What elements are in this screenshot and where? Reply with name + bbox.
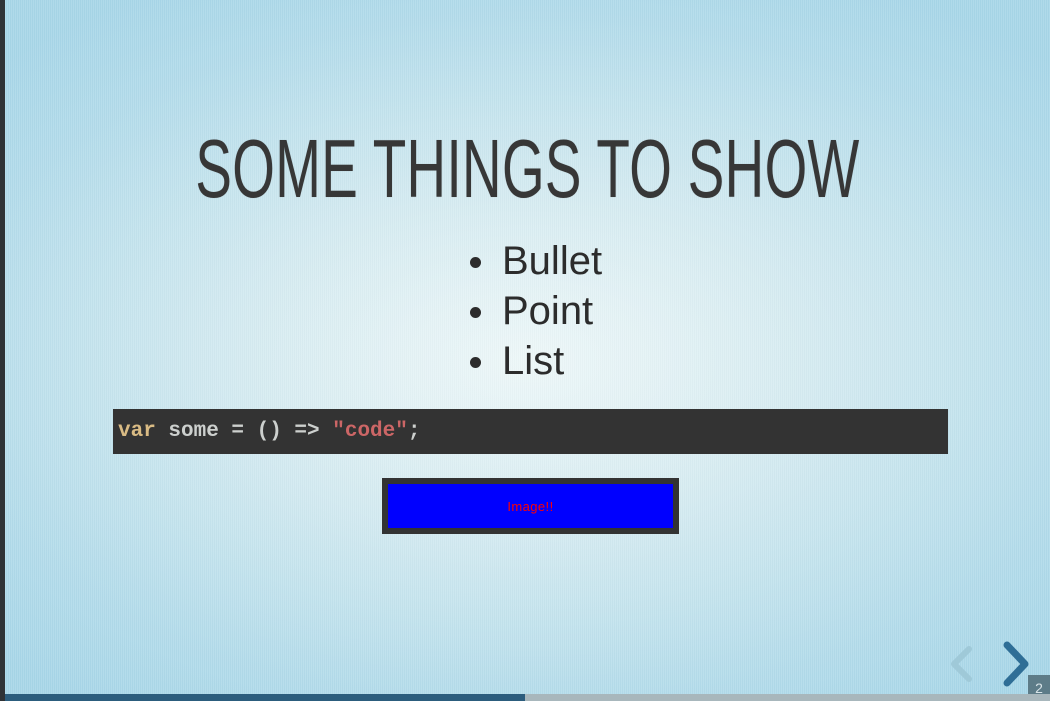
list-item: Point	[502, 286, 602, 336]
code-token-string: "code"	[332, 420, 408, 443]
viewport-left-edge	[0, 0, 5, 701]
list-item: Bullet	[502, 236, 602, 286]
code-block: var some = () => "code";	[113, 409, 948, 454]
code-token-plain: some = () =>	[156, 420, 332, 443]
code-token-keyword: var	[118, 420, 156, 443]
list-item-label: Bullet	[502, 239, 602, 283]
image-placeholder: Image!!	[382, 478, 679, 534]
bullet-list: Bullet Point List	[470, 236, 602, 386]
slide-canvas: SOME THINGS TO SHOW Bullet Point List va…	[5, 0, 1050, 694]
slide-navigation-controls	[938, 635, 1038, 693]
code-token-punct: ;	[408, 420, 421, 443]
list-item: List	[502, 336, 602, 386]
slide-content: SOME THINGS TO SHOW Bullet Point List va…	[5, 0, 1050, 694]
bullet-dot-icon	[470, 357, 481, 368]
list-item-label: Point	[502, 289, 593, 333]
list-item-label: List	[502, 339, 564, 383]
image-alt-text: Image!!	[507, 499, 553, 514]
presentation-deck: SOME THINGS TO SHOW Bullet Point List va…	[0, 0, 1050, 701]
page-title: SOME THINGS TO SHOW	[141, 121, 914, 217]
chevron-left-icon[interactable]	[938, 635, 984, 693]
progress-bar-fill	[0, 694, 525, 701]
bullet-dot-icon	[470, 257, 481, 268]
bullet-dot-icon	[470, 307, 481, 318]
progress-bar[interactable]	[0, 694, 1050, 701]
